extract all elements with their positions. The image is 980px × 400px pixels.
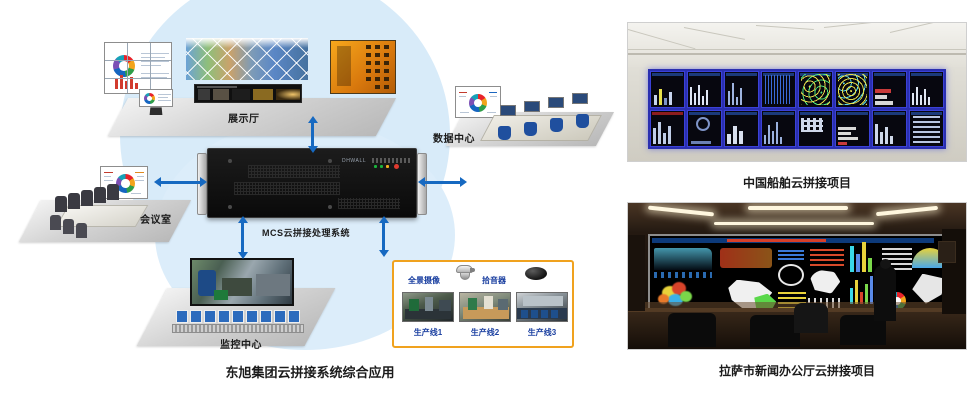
server-brand-mark: DHWALL — [342, 158, 366, 164]
exhibition-dashboard-wall — [104, 42, 172, 94]
production-line-2-thumb — [459, 292, 511, 322]
data-center-monitor-1 — [500, 105, 516, 116]
server-label: MCS云拼接处理系统 — [262, 226, 350, 239]
operator-monitor-row — [176, 310, 300, 323]
exhibition-touch-kiosk — [139, 89, 173, 107]
panoramic-camera-label: 全景摄像 — [408, 275, 440, 286]
standing-person — [874, 265, 896, 321]
monitoring-wall-display — [190, 258, 294, 306]
meeting-room-label: 会议室 — [140, 211, 172, 226]
chair — [50, 215, 61, 230]
audio-pickup-label: 拾音器 — [482, 275, 506, 286]
photo-card-china-shipbuilding[interactable]: 中国船舶云拼接项目 — [627, 22, 967, 197]
data-center-wall-display — [455, 86, 501, 118]
production-line-1-label: 生产线1 — [400, 327, 456, 338]
production-line-3-label: 生产线3 — [514, 327, 570, 338]
arrow-core-to-meeting — [160, 181, 202, 184]
chair — [55, 196, 67, 212]
data-center-label: 数据中心 — [433, 130, 475, 145]
seated-person — [794, 303, 828, 333]
photo-china-shipbuilding — [627, 22, 967, 162]
chair — [63, 219, 74, 234]
chair — [81, 190, 93, 206]
arrow-core-to-production — [382, 222, 385, 252]
photo-card-lhasa-press-office[interactable]: 拉萨市新闻办公厅云拼接项目 — [627, 202, 967, 382]
production-line-3-thumb — [516, 292, 568, 322]
exhibition-art-panel — [330, 40, 396, 94]
mcs-cloud-splicing-server[interactable]: DHWALL — [207, 148, 417, 218]
exhibition-wide-display — [194, 84, 302, 103]
server-vent-mid — [234, 182, 340, 195]
chair — [107, 184, 119, 200]
arrow-core-to-exhibition — [311, 122, 314, 148]
production-lines-group[interactable]: 全景摄像 拾音器 — [392, 260, 574, 348]
exhibition-diamond-wall — [186, 38, 308, 80]
exhibition-hall-label: 展示厅 — [228, 110, 260, 125]
arrow-core-to-datacenter — [424, 181, 462, 184]
photo-lhasa-press-office — [627, 202, 967, 350]
data-center-chair-2 — [524, 122, 537, 136]
data-center-chair-4 — [576, 114, 589, 128]
led-video-wall — [648, 234, 945, 310]
diagram-caption: 东旭集团云拼接系统综合应用 — [0, 362, 620, 381]
kiosk-stand — [150, 107, 163, 115]
data-center-chair-3 — [550, 118, 563, 132]
server-vent-bottom — [338, 198, 400, 209]
photo-caption-lhasa-press-office: 拉萨市新闻办公厅云拼接项目 — [627, 362, 967, 379]
chair — [76, 223, 87, 238]
chair — [68, 193, 80, 209]
operator-console-desk — [172, 324, 304, 333]
chair — [94, 187, 106, 203]
monitoring-center-label: 监控中心 — [220, 336, 262, 351]
arrow-core-to-monitoring — [241, 222, 244, 254]
server-indicator-strip — [372, 158, 412, 163]
data-center-chair-1 — [498, 126, 511, 140]
data-center-monitor-4 — [572, 93, 588, 104]
data-center-monitor-3 — [548, 97, 564, 108]
photo-caption-china-shipbuilding: 中国船舶云拼接项目 — [627, 174, 967, 191]
data-center-monitor-2 — [524, 101, 540, 112]
production-line-1-thumb — [402, 292, 454, 322]
audio-pickup-icon — [525, 267, 547, 280]
production-line-2-label: 生产线2 — [457, 327, 513, 338]
video-wall-grid — [648, 69, 945, 149]
system-diagram: 展示厅 数据中心 — [0, 0, 620, 400]
server-vent-top — [248, 165, 340, 178]
